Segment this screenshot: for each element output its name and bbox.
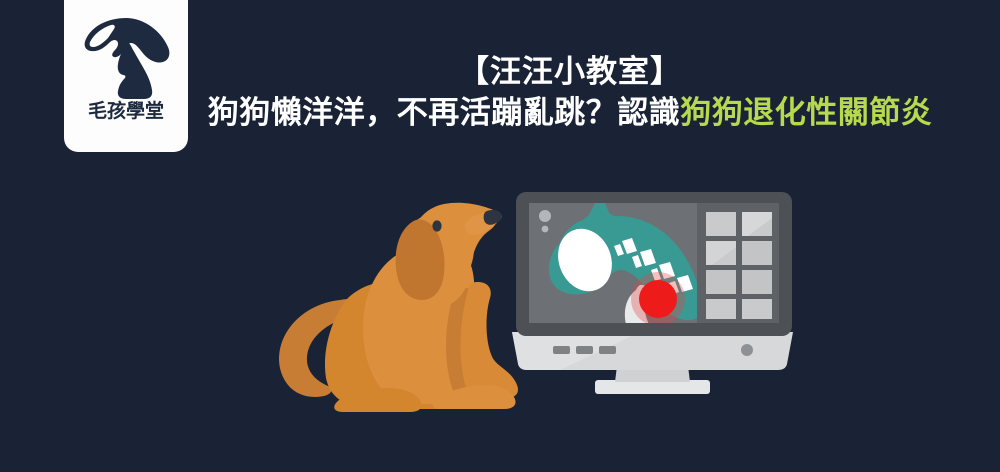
page-title-keyword: 狗狗退化性關節炎 [680,95,932,131]
screen-thumbnail[interactable] [706,299,736,319]
monitor-port-2 [576,346,593,354]
xray-joint-hotspot [639,280,677,318]
screen-thumbnail[interactable] [742,299,772,319]
xray-vertebra-2 [632,249,656,268]
page-title-line-1: 【汪汪小教室】 [190,52,950,92]
page-title-line-2: 狗狗懶洋洋，不再活蹦亂跳？認識狗狗退化性關節炎 [190,92,950,134]
xray-monitor-illustration [512,192,793,394]
screen-thumbnail[interactable] [742,241,772,265]
dog-ear [396,220,445,300]
monitor-stand-highlight [624,342,681,366]
screen-thumbnail[interactable] [706,270,736,294]
monitor-port-3 [599,346,616,354]
dog-hind-paw [334,388,421,412]
monitor-port-1 [553,346,570,354]
dog-neck [399,211,496,308]
sitting-dog-illustration [279,203,518,412]
screen-thumbnail[interactable] [742,212,772,236]
title-block: 【汪汪小教室】 狗狗懶洋洋，不再活蹦亂跳？認識狗狗退化性關節炎 [190,52,950,134]
dog-head [410,203,502,289]
dog-muzzle [465,211,501,235]
dog-near-front-leg [461,282,518,398]
brand-logo-card: 毛孩學堂 [64,0,188,152]
dog-joint-xray [539,198,779,338]
xray-femur-bone [625,285,652,338]
xray-skull-bone [549,221,621,300]
monitor-screen [529,203,779,323]
screen-thumbnail-gloss [706,241,736,265]
dog-eye-icon [432,220,441,231]
monitor-base [595,380,710,394]
brand-logo-text: 毛孩學堂 [88,102,164,121]
screen-thumbnail[interactable] [706,241,736,265]
monitor-chin-gloss [512,332,640,370]
screen-thumbnail-panel [697,203,779,323]
banner-root: 毛孩學堂 【汪汪小教室】 狗狗懶洋洋，不再活蹦亂跳？認識狗狗退化性關節炎 [0,0,1000,472]
dog-body [363,238,494,404]
dog-front-paw [433,385,516,409]
xray-joint-halo [631,272,685,326]
screen-thumbnail-gloss [742,212,772,236]
page-title-line-2-prefix: 狗狗懶洋洋，不再活蹦亂跳？認識 [208,95,681,131]
dog-tail [279,299,354,397]
xray-vertebra-1 [614,238,637,256]
dog-hindquarters [325,280,464,409]
monitor-stand [615,342,690,382]
monitor-power-indicator [741,344,753,356]
screen-indicator-dot-small [542,226,549,233]
xray-vertebra-3 [651,262,675,281]
screen-thumbnail[interactable] [706,212,736,236]
xray-vertebra-4 [669,275,693,294]
screen-thumbnail[interactable] [742,270,772,294]
monitor-bezel [516,192,792,336]
screen-indicator-dot-large [539,210,551,222]
dog-head-graduation-logo-icon [78,12,174,100]
xray-dog-silhouette [549,198,703,320]
dog-far-front-leg [446,288,483,403]
dog-nose-icon [484,210,502,225]
monitor-chin [512,332,793,370]
